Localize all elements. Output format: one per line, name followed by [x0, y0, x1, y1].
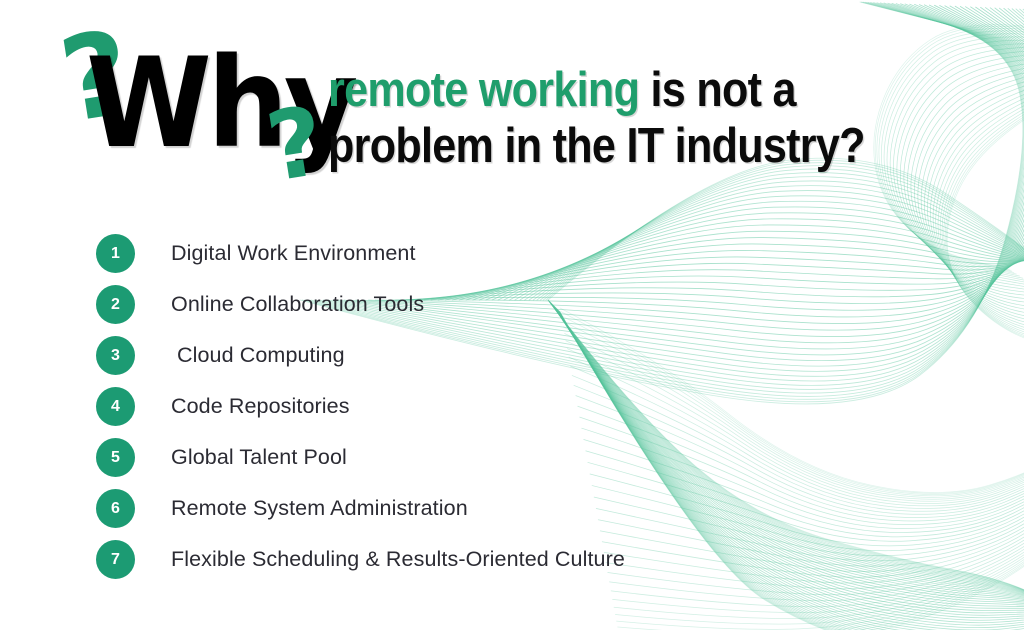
reason-number-badge: 5: [96, 438, 135, 477]
headline-subtitle: remote working is not a problem in the I…: [328, 62, 882, 175]
reason-number-badge: 3: [96, 336, 135, 375]
why-lockup: ? Why ?: [62, 36, 362, 201]
reason-row: 7Flexible Scheduling & Results-Oriented …: [96, 534, 856, 585]
reason-label: Flexible Scheduling & Results-Oriented C…: [171, 547, 625, 573]
reason-number-badge: 6: [96, 489, 135, 528]
reason-number-badge: 1: [96, 234, 135, 273]
reason-label: Online Collaboration Tools: [171, 292, 424, 318]
reason-row: 1Digital Work Environment: [96, 228, 856, 279]
reason-label: Remote System Administration: [171, 496, 468, 522]
poster-canvas: ? Why ? remote working is not a problem …: [0, 0, 1024, 630]
reason-row: 2Online Collaboration Tools: [96, 279, 856, 330]
headline-line2: problem in the IT industry?: [328, 118, 882, 174]
reason-label: Cloud Computing: [177, 343, 345, 369]
reason-number-badge: 2: [96, 285, 135, 324]
reason-number-badge: 4: [96, 387, 135, 426]
headline-block: ? Why ? remote working is not a problem …: [0, 0, 1024, 210]
reason-label: Code Repositories: [171, 394, 350, 420]
reason-label: Global Talent Pool: [171, 445, 347, 471]
headline-highlight-phrase: remote working: [328, 63, 639, 117]
reason-label: Digital Work Environment: [171, 241, 416, 267]
reason-row: 3Cloud Computing: [96, 330, 856, 381]
reason-row: 4Code Repositories: [96, 381, 856, 432]
reason-row: 5Global Talent Pool: [96, 432, 856, 483]
reason-list: 1Digital Work Environment2Online Collabo…: [96, 228, 856, 585]
reason-number-badge: 7: [96, 540, 135, 579]
reason-row: 6Remote System Administration: [96, 483, 856, 534]
headline-line1-rest: is not a: [639, 63, 796, 117]
